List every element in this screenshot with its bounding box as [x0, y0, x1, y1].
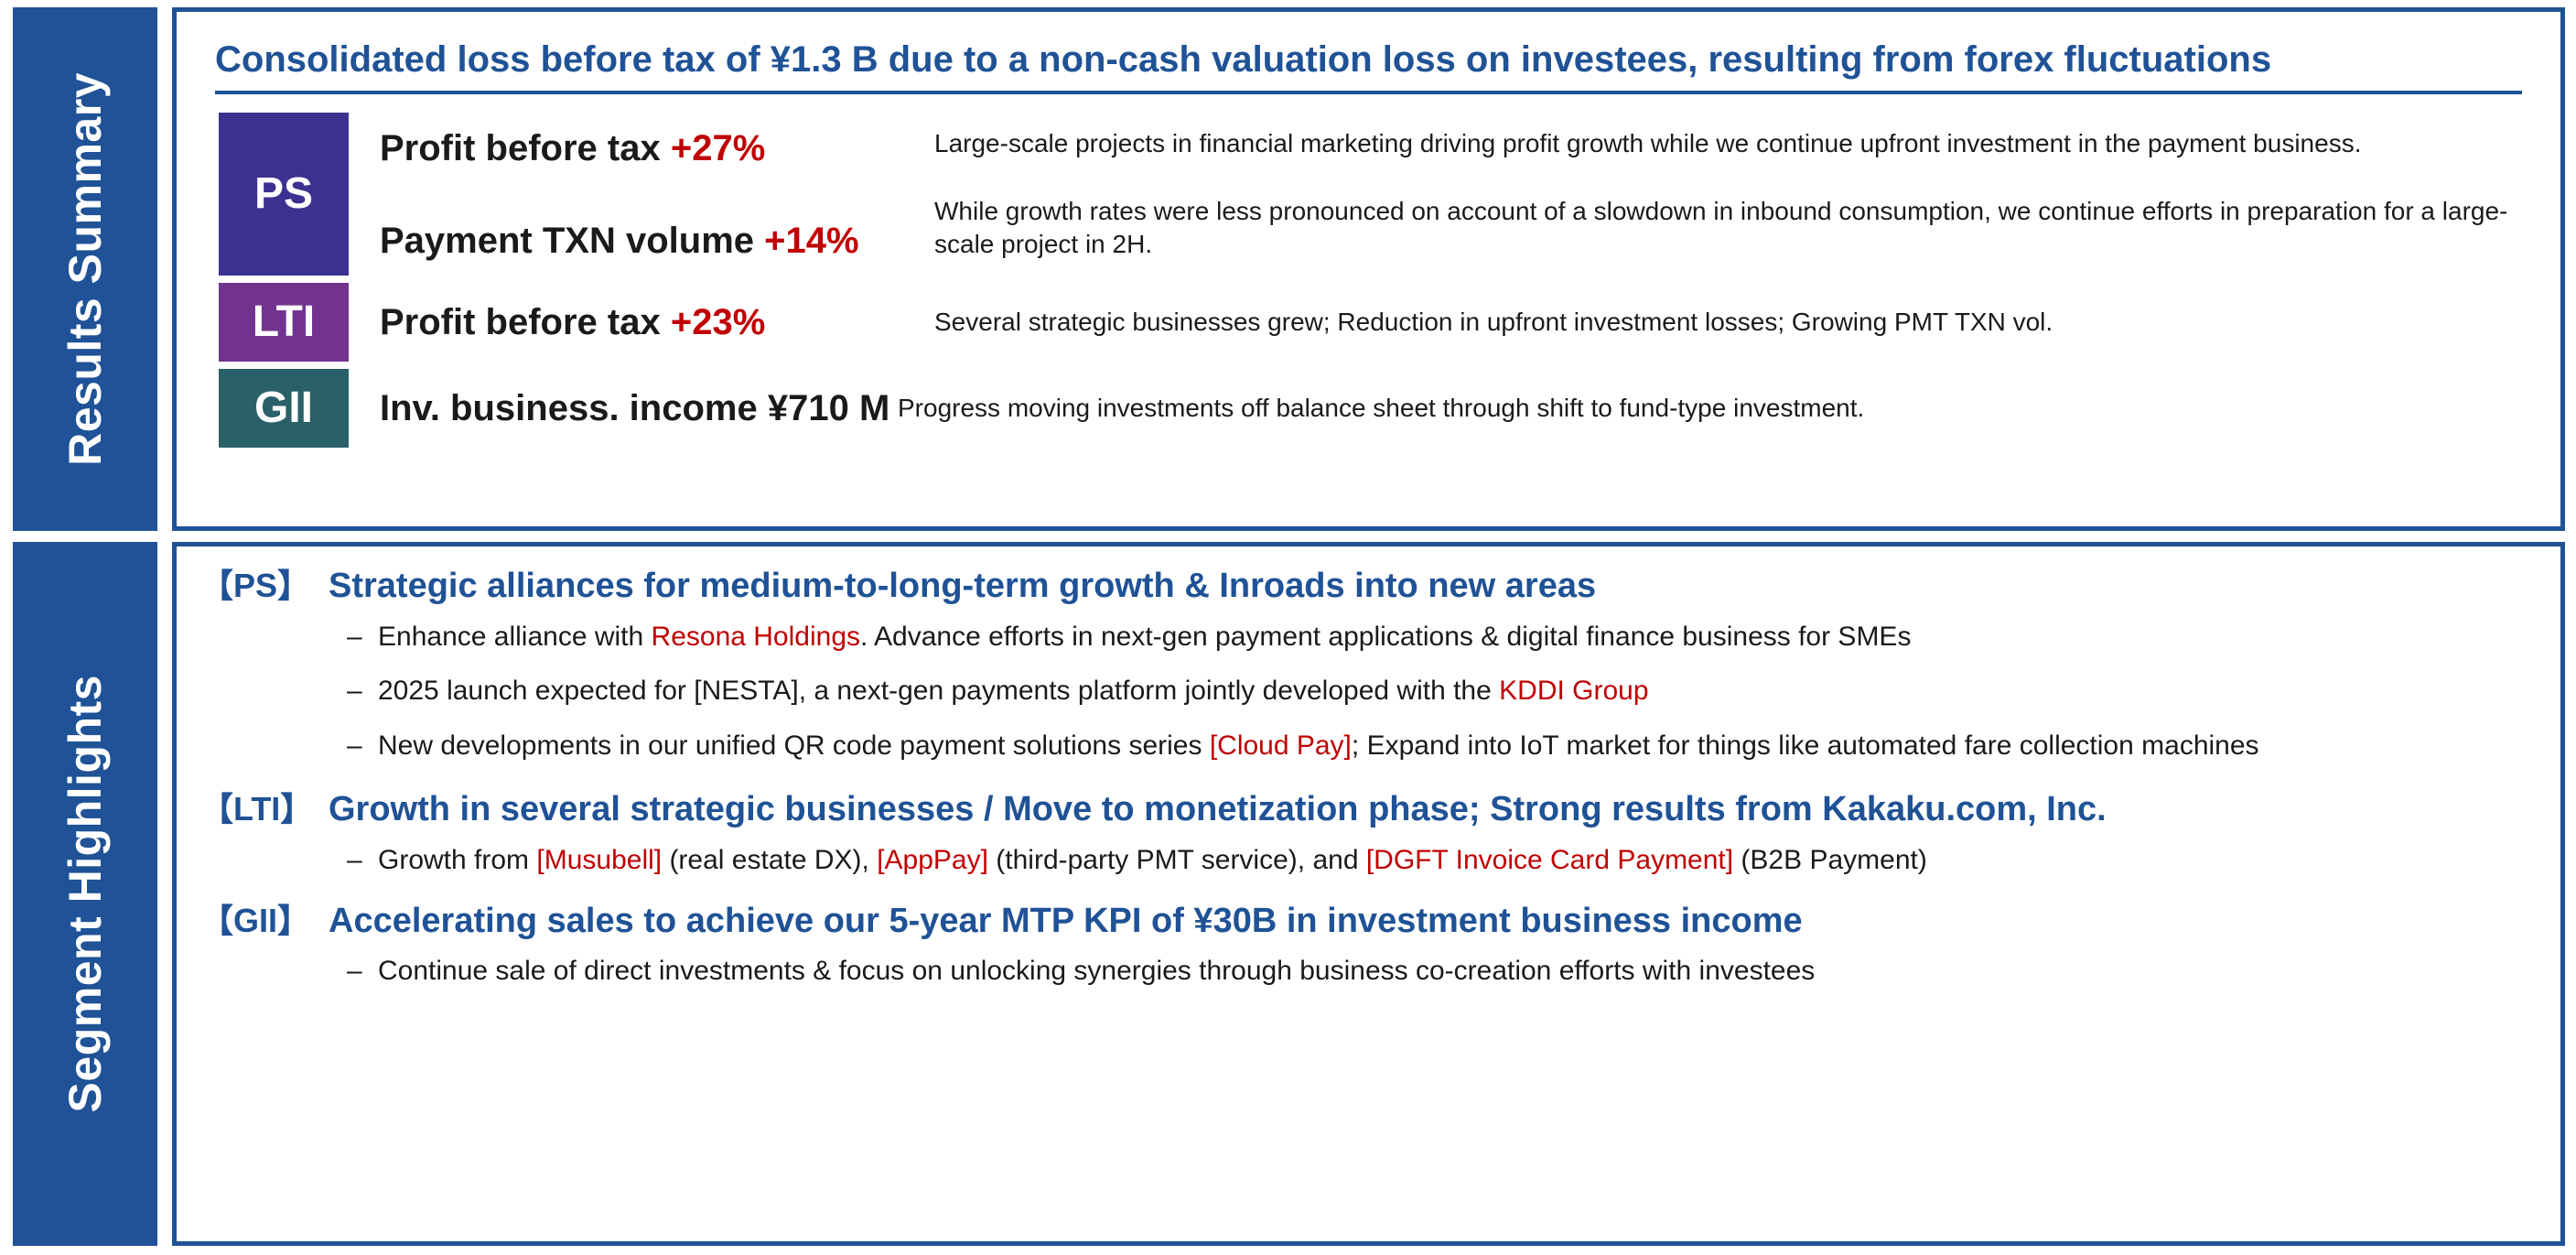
highlight-title-lti: Growth in several strategic businesses /…	[329, 790, 2537, 830]
results-metrics-lti: Profit before tax +23%	[349, 283, 934, 362]
highlight-tag-gii: 【GII】	[200, 902, 329, 939]
results-summary-rows: PS Profit before tax +27% Payment TXN vo…	[199, 113, 2538, 448]
list-item: – Enhance alliance with Resona Holdings.…	[347, 616, 2537, 658]
bullet-marker: –	[347, 670, 378, 712]
metric-ps-profit-label: Profit before tax	[380, 128, 661, 168]
bullet-marker: –	[347, 950, 378, 992]
segment-badge-ps: PS	[219, 113, 349, 276]
results-desc-gii-1: Progress moving investments off balance …	[898, 392, 2538, 425]
results-summary-panel: Consolidated loss before tax of ¥1.3 B d…	[172, 7, 2565, 531]
bullet-text: 2025 launch expected for [NESTA], a next…	[378, 670, 2537, 712]
metric-lti-profit-label: Profit before tax	[380, 302, 661, 342]
list-item: – 2025 launch expected for [NESTA], a ne…	[347, 670, 2537, 712]
highlight-bullets-gii: – Continue sale of direct investments & …	[200, 950, 2537, 992]
bullet-text: New developments in our unified QR code …	[378, 725, 2537, 767]
highlight-head-lti: 【LTI】 Growth in several strategic busine…	[200, 790, 2537, 830]
list-item: – New developments in our unified QR cod…	[347, 725, 2537, 767]
metric-lti-profit-value: +23%	[671, 302, 765, 342]
metric-ps-txn: Payment TXN volume +14%	[380, 220, 934, 262]
bullet-text: Growth from [Musubell] (real estate DX),…	[378, 839, 2537, 882]
results-summary-body: Consolidated loss before tax of ¥1.3 B d…	[177, 12, 2560, 526]
bullet-marker: –	[347, 725, 378, 767]
segment-highlights-section: Segment Highlights 【PS】 Strategic allian…	[13, 542, 2565, 1246]
highlighted-term: [AppPay]	[877, 845, 988, 875]
metric-gii-income: Inv. business. income ¥710 M	[380, 387, 898, 429]
metric-gii-income-value: ¥710 M	[768, 388, 889, 428]
segment-highlights-body: 【PS】 Strategic alliances for medium-to-l…	[177, 546, 2560, 1241]
metric-ps-profit: Profit before tax +27%	[380, 127, 934, 169]
bullet-text: Enhance alliance with Resona Holdings. A…	[378, 616, 2537, 658]
highlight-tag-ps: 【PS】	[200, 567, 329, 604]
results-summary-section: Results Summary Consolidated loss before…	[13, 7, 2565, 531]
metric-ps-profit-value: +27%	[671, 128, 765, 168]
highlighted-term: [Musubell]	[536, 845, 662, 875]
highlight-group-ps: 【PS】 Strategic alliances for medium-to-l…	[200, 567, 2537, 766]
results-desc-ps-1: Large-scale projects in financial market…	[934, 127, 2538, 160]
highlight-title-ps: Strategic alliances for medium-to-long-t…	[329, 567, 2537, 607]
results-desc-ps-2: While growth rates were less pronounced …	[934, 195, 2538, 261]
metric-lti-profit: Profit before tax +23%	[380, 301, 934, 343]
segment-badge-gii: GII	[219, 369, 349, 448]
metric-ps-txn-value: +14%	[764, 221, 858, 261]
results-row-ps: PS Profit before tax +27% Payment TXN vo…	[219, 113, 2538, 276]
segment-highlights-panel: 【PS】 Strategic alliances for medium-to-l…	[172, 542, 2565, 1246]
highlighted-term: KDDI Group	[1499, 676, 1648, 706]
highlight-group-gii: 【GII】 Accelerating sales to achieve our …	[200, 902, 2537, 992]
highlight-bullets-lti: – Growth from [Musubell] (real estate DX…	[200, 839, 2537, 882]
highlighted-term: [DGFT Invoice Card Payment]	[1366, 845, 1733, 875]
highlight-tag-lti: 【LTI】	[200, 790, 329, 828]
highlight-title-gii: Accelerating sales to achieve our 5-year…	[329, 902, 2537, 942]
results-desc-lti: Several strategic businesses grew; Reduc…	[934, 283, 2538, 362]
highlight-bullets-ps: – Enhance alliance with Resona Holdings.…	[200, 616, 2537, 767]
highlight-head-ps: 【PS】 Strategic alliances for medium-to-l…	[200, 567, 2537, 607]
results-row-lti: LTI Profit before tax +23% Several strat…	[219, 283, 2538, 362]
segment-highlights-side-label: Segment Highlights	[62, 675, 108, 1112]
results-summary-side-tab: Results Summary	[13, 7, 157, 531]
segment-badge-lti: LTI	[219, 283, 349, 362]
highlight-head-gii: 【GII】 Accelerating sales to achieve our …	[200, 902, 2537, 942]
highlighted-term: [Cloud Pay]	[1210, 730, 1352, 761]
highlighted-term: Resona Holdings	[652, 622, 860, 652]
results-desc-ps: Large-scale projects in financial market…	[934, 113, 2538, 276]
results-desc-lti-1: Several strategic businesses grew; Reduc…	[934, 306, 2538, 339]
slide-root: Results Summary Consolidated loss before…	[0, 0, 2576, 1255]
list-item: – Growth from [Musubell] (real estate DX…	[347, 839, 2537, 882]
results-row-gii: GII Inv. business. income ¥710 M Progres…	[219, 369, 2538, 448]
metric-gii-income-label: Inv. business. income	[380, 388, 758, 428]
results-metrics-gii: Inv. business. income ¥710 M	[349, 369, 898, 448]
results-summary-side-label: Results Summary	[62, 72, 108, 466]
bullet-marker: –	[347, 839, 378, 882]
list-item: – Continue sale of direct investments & …	[347, 950, 2537, 992]
bullet-marker: –	[347, 616, 378, 658]
results-summary-headline: Consolidated loss before tax of ¥1.3 B d…	[215, 39, 2522, 94]
highlight-group-lti: 【LTI】 Growth in several strategic busine…	[200, 790, 2537, 881]
segment-highlights-side-tab: Segment Highlights	[13, 542, 157, 1246]
bullet-text: Continue sale of direct investments & fo…	[378, 950, 2537, 992]
results-metrics-ps: Profit before tax +27% Payment TXN volum…	[349, 113, 934, 276]
results-desc-gii: Progress moving investments off balance …	[898, 369, 2538, 448]
metric-ps-txn-label: Payment TXN volume	[380, 221, 754, 261]
